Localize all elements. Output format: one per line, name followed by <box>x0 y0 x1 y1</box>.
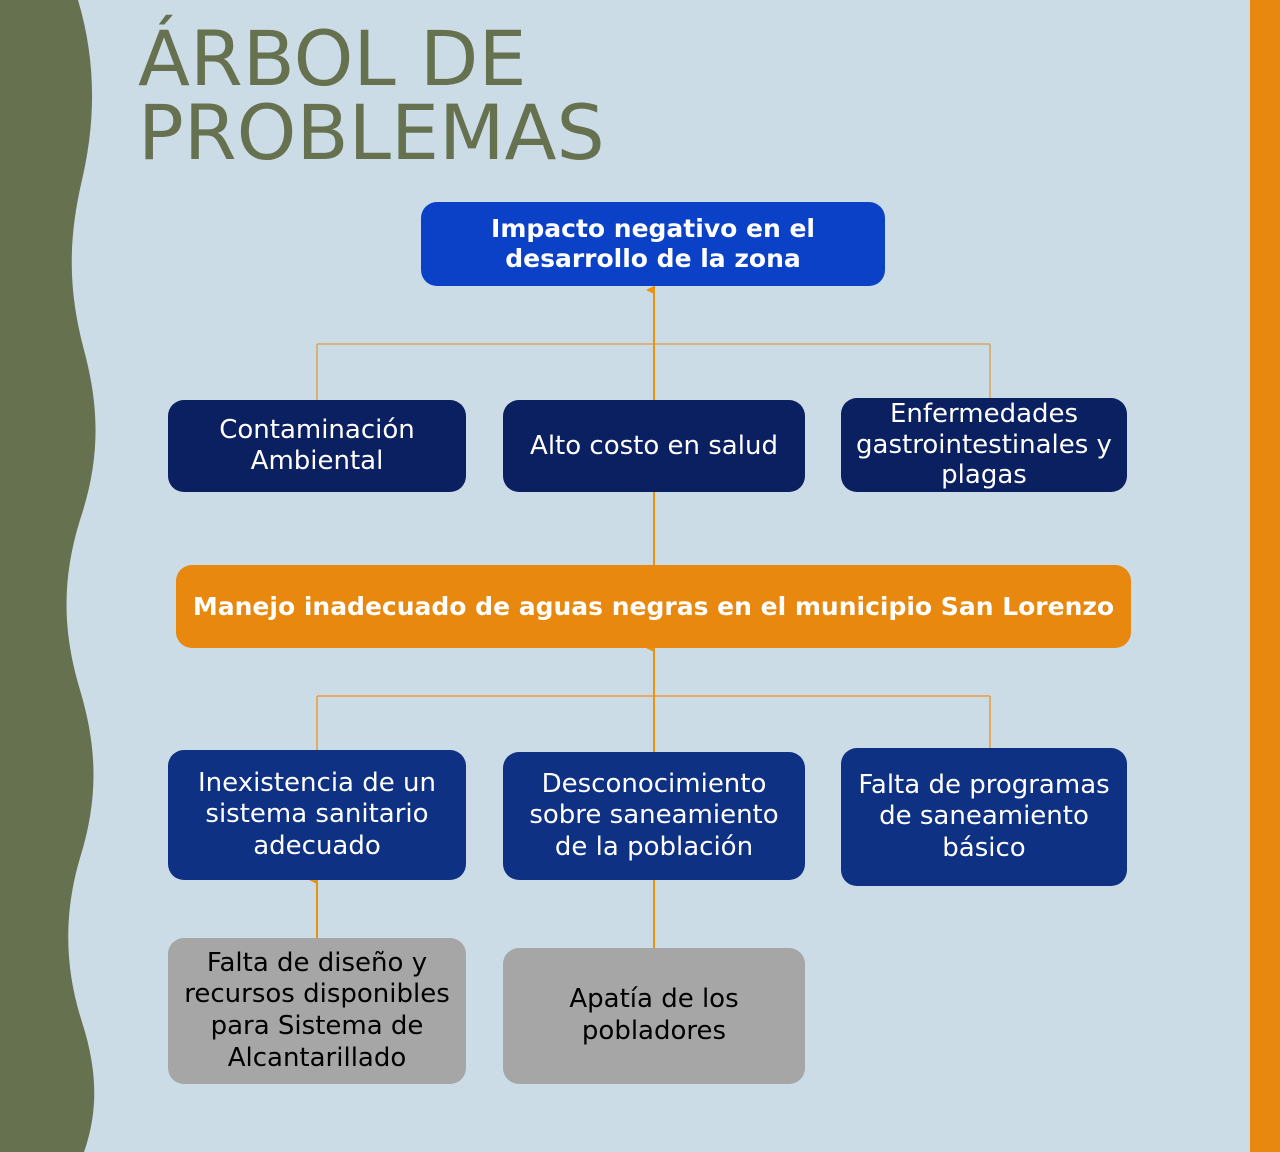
node-root-falta-diseno-label: Falta de diseño y recursos disponibles p… <box>178 948 456 1075</box>
node-cause-inexistencia-label: Inexistencia de un sistema sanitario ade… <box>178 768 456 862</box>
node-top-effect-label: Impacto negativo en el desarrollo de la … <box>431 214 875 275</box>
node-cause-desconocimiento[interactable]: Desconocimiento sobre saneamiento de la … <box>503 752 805 880</box>
node-effect-enfermedades[interactable]: Enfermedades gastrointestinales y plagas <box>841 398 1127 492</box>
connector-causes-bracket <box>317 648 990 752</box>
node-root-apatia[interactable]: Apatía de los pobladores <box>503 948 805 1084</box>
page-title: ÁRBOL DE PROBLEMAS <box>138 22 738 171</box>
node-top-effect[interactable]: Impacto negativo en el desarrollo de la … <box>421 202 885 286</box>
node-cause-inexistencia[interactable]: Inexistencia de un sistema sanitario ade… <box>168 750 466 880</box>
node-cause-falta-programas-label: Falta de programas de saneamiento básico <box>851 770 1117 864</box>
node-effect-contaminacion-label: Contaminación Ambiental <box>178 415 456 476</box>
left-wave-decoration <box>0 0 110 1152</box>
node-cause-falta-programas[interactable]: Falta de programas de saneamiento básico <box>841 748 1127 886</box>
node-central-problem-label: Manejo inadecuado de aguas negras en el … <box>186 591 1121 623</box>
connector-effects-bracket <box>317 290 990 402</box>
node-effect-contaminacion[interactable]: Contaminación Ambiental <box>168 400 466 492</box>
node-cause-desconocimiento-label: Desconocimiento sobre saneamiento de la … <box>513 769 795 863</box>
node-effect-alto-costo-label: Alto costo en salud <box>513 431 795 462</box>
node-effect-enfermedades-label: Enfermedades gastrointestinales y plagas <box>851 399 1117 491</box>
right-orange-strip <box>1250 0 1280 1152</box>
node-root-apatia-label: Apatía de los pobladores <box>513 984 795 1047</box>
node-effect-alto-costo[interactable]: Alto costo en salud <box>503 400 805 492</box>
slide-canvas: ÁRBOL DE PROBLEMAS <box>0 0 1280 1152</box>
node-root-falta-diseno[interactable]: Falta de diseño y recursos disponibles p… <box>168 938 466 1084</box>
node-central-problem[interactable]: Manejo inadecuado de aguas negras en el … <box>176 565 1131 648</box>
